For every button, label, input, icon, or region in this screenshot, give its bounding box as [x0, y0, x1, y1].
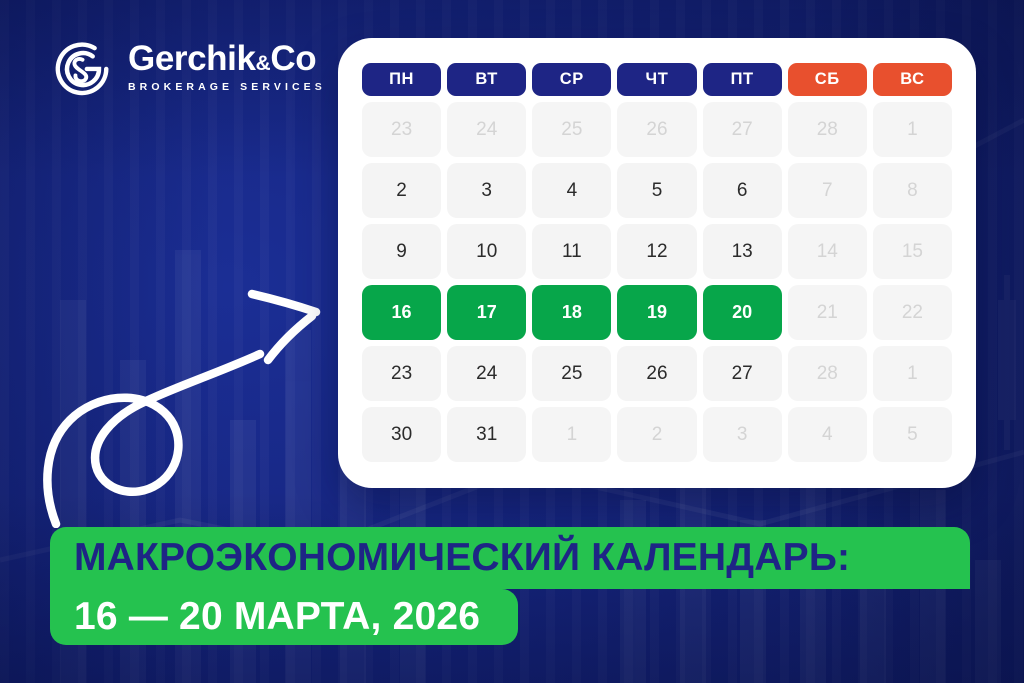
- calendar-day[interactable]: 5: [617, 163, 696, 218]
- calendar-day[interactable]: 22: [873, 285, 952, 340]
- calendar-day[interactable]: 27: [703, 346, 782, 401]
- calendar-day[interactable]: 23: [362, 102, 441, 157]
- brand-name-main: Gerchik: [128, 39, 256, 78]
- calendar-grid: ПНВТСРЧТПТСБВС23242526272812345678910111…: [362, 63, 952, 462]
- calendar-day[interactable]: 3: [447, 163, 526, 218]
- calendar-day[interactable]: 28: [788, 102, 867, 157]
- calendar-day[interactable]: 23: [362, 346, 441, 401]
- calendar-day[interactable]: 6: [703, 163, 782, 218]
- calendar-day[interactable]: 11: [532, 224, 611, 279]
- calendar-card: ПНВТСРЧТПТСБВС23242526272812345678910111…: [338, 38, 976, 488]
- calendar-day[interactable]: 5: [873, 407, 952, 462]
- calendar-day[interactable]: 13: [703, 224, 782, 279]
- calendar-day[interactable]: 30: [362, 407, 441, 462]
- brand-logo: Gerchik&Co BROKERAGE SERVICES: [52, 36, 326, 98]
- banner-title-line1: МАКРОЭКОНОМИЧЕСКИЙ КАЛЕНДАРЬ:: [50, 527, 970, 589]
- calendar-day[interactable]: 15: [873, 224, 952, 279]
- calendar-day-selected[interactable]: 18: [532, 285, 611, 340]
- calendar-day-selected[interactable]: 16: [362, 285, 441, 340]
- title-banner: МАКРОЭКОНОМИЧЕСКИЙ КАЛЕНДАРЬ: 16 — 20 МА…: [50, 527, 970, 645]
- calendar-day[interactable]: 14: [788, 224, 867, 279]
- calendar-day[interactable]: 12: [617, 224, 696, 279]
- calendar-day[interactable]: 28: [788, 346, 867, 401]
- calendar-day[interactable]: 7: [788, 163, 867, 218]
- calendar-day[interactable]: 26: [617, 102, 696, 157]
- calendar-day[interactable]: 4: [788, 407, 867, 462]
- calendar-header-чт: ЧТ: [617, 63, 696, 96]
- calendar-header-пт: ПТ: [703, 63, 782, 96]
- calendar-day-selected[interactable]: 17: [447, 285, 526, 340]
- gerchik-monogram-icon: [52, 36, 114, 98]
- calendar-header-вс: ВС: [873, 63, 952, 96]
- calendar-header-сб: СБ: [788, 63, 867, 96]
- calendar-day[interactable]: 3: [703, 407, 782, 462]
- calendar-day[interactable]: 1: [873, 102, 952, 157]
- calendar-day[interactable]: 2: [362, 163, 441, 218]
- calendar-header-вт: ВТ: [447, 63, 526, 96]
- calendar-day[interactable]: 27: [703, 102, 782, 157]
- calendar-day[interactable]: 1: [873, 346, 952, 401]
- calendar-day[interactable]: 10: [447, 224, 526, 279]
- calendar-day[interactable]: 31: [447, 407, 526, 462]
- calendar-day-selected[interactable]: 19: [617, 285, 696, 340]
- hand-drawn-looping-arrow-icon: [34, 266, 344, 528]
- brand-name: Gerchik&Co: [128, 41, 326, 78]
- calendar-header-пн: ПН: [362, 63, 441, 96]
- brand-name-ampersand: &: [256, 52, 271, 75]
- calendar-day[interactable]: 26: [617, 346, 696, 401]
- calendar-day[interactable]: 25: [532, 102, 611, 157]
- calendar-header-ср: СР: [532, 63, 611, 96]
- brand-name-suffix: Co: [270, 39, 316, 78]
- calendar-day[interactable]: 9: [362, 224, 441, 279]
- banner-title-line2: 16 — 20 МАРТА, 2026: [50, 589, 518, 645]
- poster-canvas: Gerchik&Co BROKERAGE SERVICES ПНВТСРЧТПТ…: [0, 0, 1024, 683]
- calendar-day[interactable]: 1: [532, 407, 611, 462]
- calendar-day[interactable]: 24: [447, 346, 526, 401]
- calendar-day[interactable]: 24: [447, 102, 526, 157]
- calendar-day[interactable]: 2: [617, 407, 696, 462]
- calendar-day-selected[interactable]: 20: [703, 285, 782, 340]
- calendar-day[interactable]: 8: [873, 163, 952, 218]
- calendar-day[interactable]: 4: [532, 163, 611, 218]
- calendar-day[interactable]: 25: [532, 346, 611, 401]
- calendar-day[interactable]: 21: [788, 285, 867, 340]
- brand-tagline: BROKERAGE SERVICES: [128, 81, 326, 93]
